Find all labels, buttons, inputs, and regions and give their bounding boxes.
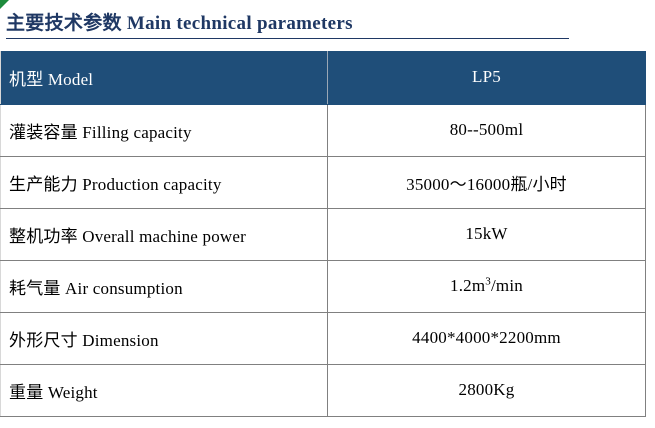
table-row: 耗气量 Air consumption 1.2m3/min bbox=[1, 260, 646, 312]
row-value-dimension: 4400*4000*2200mm bbox=[328, 312, 646, 364]
value-text: 1.2m bbox=[450, 276, 485, 295]
row-value-production-capacity: 35000～16000瓶/小时 bbox=[328, 156, 646, 208]
table-body: 机型 Model LP5 灌装容量 Filling capacity 80--5… bbox=[1, 51, 646, 416]
spec-sheet-page: 主要技术参数 Main technical parameters 机型 Mode… bbox=[0, 0, 655, 428]
comment-marker-icon bbox=[0, 0, 9, 9]
row-value-overall-machine-power: 15kW bbox=[328, 208, 646, 260]
technical-parameters-table: 机型 Model LP5 灌装容量 Filling capacity 80--5… bbox=[0, 51, 646, 417]
header-label-cell: 机型 Model bbox=[1, 51, 328, 104]
table-row: 重量 Weight 2800Kg bbox=[1, 364, 646, 416]
row-value-air-consumption: 1.2m3/min bbox=[328, 260, 646, 312]
row-label-overall-machine-power: 整机功率 Overall machine power bbox=[1, 208, 328, 260]
row-value-weight: 2800Kg bbox=[328, 364, 646, 416]
value-text-suffix: /min bbox=[491, 276, 523, 295]
row-label-production-capacity: 生产能力 Production capacity bbox=[1, 156, 328, 208]
row-value-filling-capacity: 80--500ml bbox=[328, 104, 646, 156]
row-label-weight: 重量 Weight bbox=[1, 364, 328, 416]
header-value-cell: LP5 bbox=[328, 51, 646, 104]
row-label-filling-capacity: 灌装容量 Filling capacity bbox=[1, 104, 328, 156]
row-label-air-consumption: 耗气量 Air consumption bbox=[1, 260, 328, 312]
table-header-row: 机型 Model LP5 bbox=[1, 51, 646, 104]
table-row: 灌装容量 Filling capacity 80--500ml bbox=[1, 104, 646, 156]
table-row: 整机功率 Overall machine power 15kW bbox=[1, 208, 646, 260]
title-container: 主要技术参数 Main technical parameters bbox=[0, 0, 655, 44]
table-row: 外形尺寸 Dimension 4400*4000*2200mm bbox=[1, 312, 646, 364]
value-text: 2800Kg bbox=[459, 380, 515, 399]
value-text: 80--500ml bbox=[450, 120, 524, 139]
row-label-dimension: 外形尺寸 Dimension bbox=[1, 312, 328, 364]
value-text: 15kW bbox=[465, 224, 507, 243]
value-text: 4400*4000*2200mm bbox=[412, 328, 561, 347]
value-text: 35000～16000瓶/小时 bbox=[406, 175, 567, 194]
page-title: 主要技术参数 Main technical parameters bbox=[6, 13, 569, 39]
table-row: 生产能力 Production capacity 35000～16000瓶/小时 bbox=[1, 156, 646, 208]
